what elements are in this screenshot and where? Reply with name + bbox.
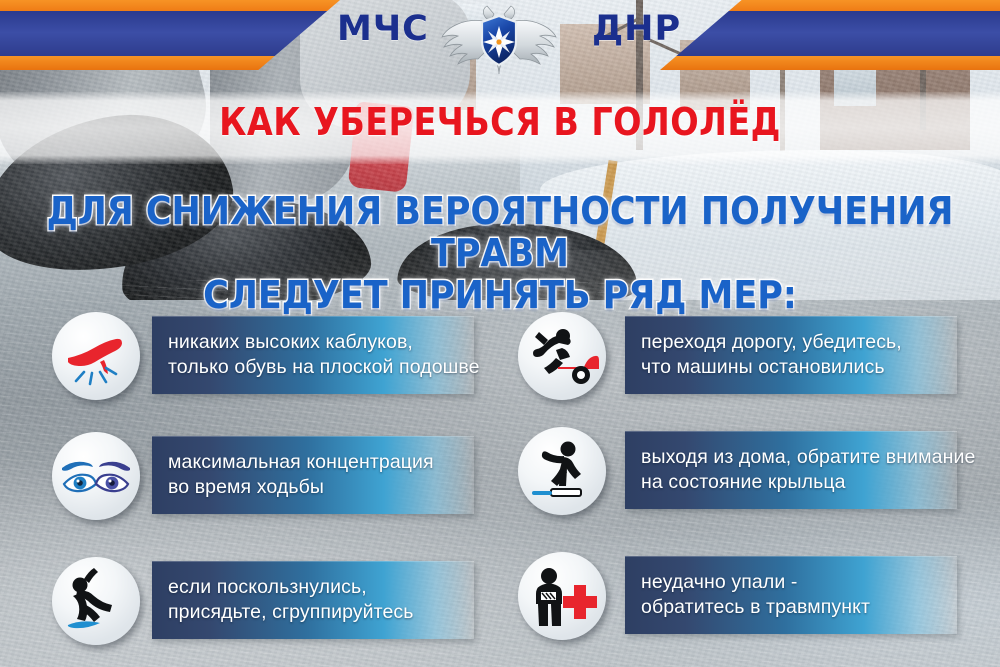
high-heel-shoe-icon: [52, 312, 140, 400]
tip-banner: неудачно упали - обратитесь в травмпункт: [625, 556, 957, 634]
injured-person-red-cross-icon: [518, 552, 606, 640]
tip-line-2: на состояние крыльца: [641, 470, 975, 495]
tip-line-1: максимальная концентрация: [168, 450, 434, 475]
tip-text: максимальная концентрация во время ходьб…: [152, 450, 434, 500]
ribbon-left-segment: [0, 0, 340, 70]
mchs-label: МЧС: [337, 9, 429, 49]
tip-banner: если поскользнулись, присядьте, сгруппир…: [152, 561, 474, 639]
tip-line-1: никаких высоких каблуков,: [168, 330, 480, 355]
tip-text: если поскользнулись, присядьте, сгруппир…: [152, 575, 414, 625]
poster-root: МЧС ДНР: [0, 0, 1000, 667]
tip-banner: переходя дорогу, убедитесь, что машины о…: [625, 316, 957, 394]
tip-line-1: выходя из дома, обратите внимание: [641, 445, 975, 470]
ribbon-orange-stripe-top: [660, 0, 1000, 11]
page-title: КАК УБЕРЕЧЬСЯ В ГОЛОЛЁД: [60, 100, 940, 144]
slipping-falling-person-icon: [52, 557, 140, 645]
tip-banner: максимальная концентрация во время ходьб…: [152, 436, 474, 514]
tip-line-2: во время ходьбы: [168, 475, 434, 500]
tip-banner: выходя из дома, обратите внимание на сос…: [625, 431, 957, 509]
tip-line-1: переходя дорогу, убедитесь,: [641, 330, 902, 355]
person-on-slippery-step-icon: [518, 427, 606, 515]
dnr-label: ДНР: [592, 9, 681, 49]
tip-text: выходя из дома, обратите внимание на сос…: [625, 445, 975, 495]
ribbon-orange-stripe-bottom: [0, 56, 340, 70]
ribbon-blue-band: [0, 11, 340, 56]
tips-grid: никаких высоких каблуков, только обувь н…: [0, 300, 1000, 640]
tip-line-2: что машины остановились: [641, 355, 902, 380]
top-ribbon-banner: МЧС ДНР: [0, 0, 1000, 70]
tip-banner: никаких высоких каблуков, только обувь н…: [152, 316, 474, 394]
ribbon-orange-stripe-bottom: [660, 56, 1000, 70]
tip-line-2: только обувь на плоской подошве: [168, 355, 480, 380]
tip-text: переходя дорогу, убедитесь, что машины о…: [625, 330, 902, 380]
attentive-eyes-icon: [52, 432, 140, 520]
tip-line-2: обратитесь в травмпункт: [641, 595, 870, 620]
pedestrian-hit-by-car-icon: [518, 312, 606, 400]
tip-text: неудачно упали - обратитесь в травмпункт: [625, 570, 870, 620]
tip-line-2: присядьте, сгруппируйтесь: [168, 600, 414, 625]
subtitle-line-1: ДЛЯ СНИЖЕНИЯ ВЕРОЯТНОСТИ ПОЛУЧЕНИЯ ТРАВМ: [47, 189, 954, 275]
ribbon-right-segment: [660, 0, 1000, 70]
ribbon-orange-stripe-top: [0, 0, 340, 11]
tip-text: никаких высоких каблуков, только обувь н…: [152, 330, 480, 380]
tip-line-1: неудачно упали -: [641, 570, 870, 595]
ribbon-blue-band: [660, 11, 1000, 56]
tip-line-1: если поскользнулись,: [168, 575, 414, 600]
mchs-eagle-emblem: [440, 2, 558, 74]
subtitle: ДЛЯ СНИЖЕНИЯ ВЕРОЯТНОСТИ ПОЛУЧЕНИЯ ТРАВМ…: [40, 190, 960, 316]
